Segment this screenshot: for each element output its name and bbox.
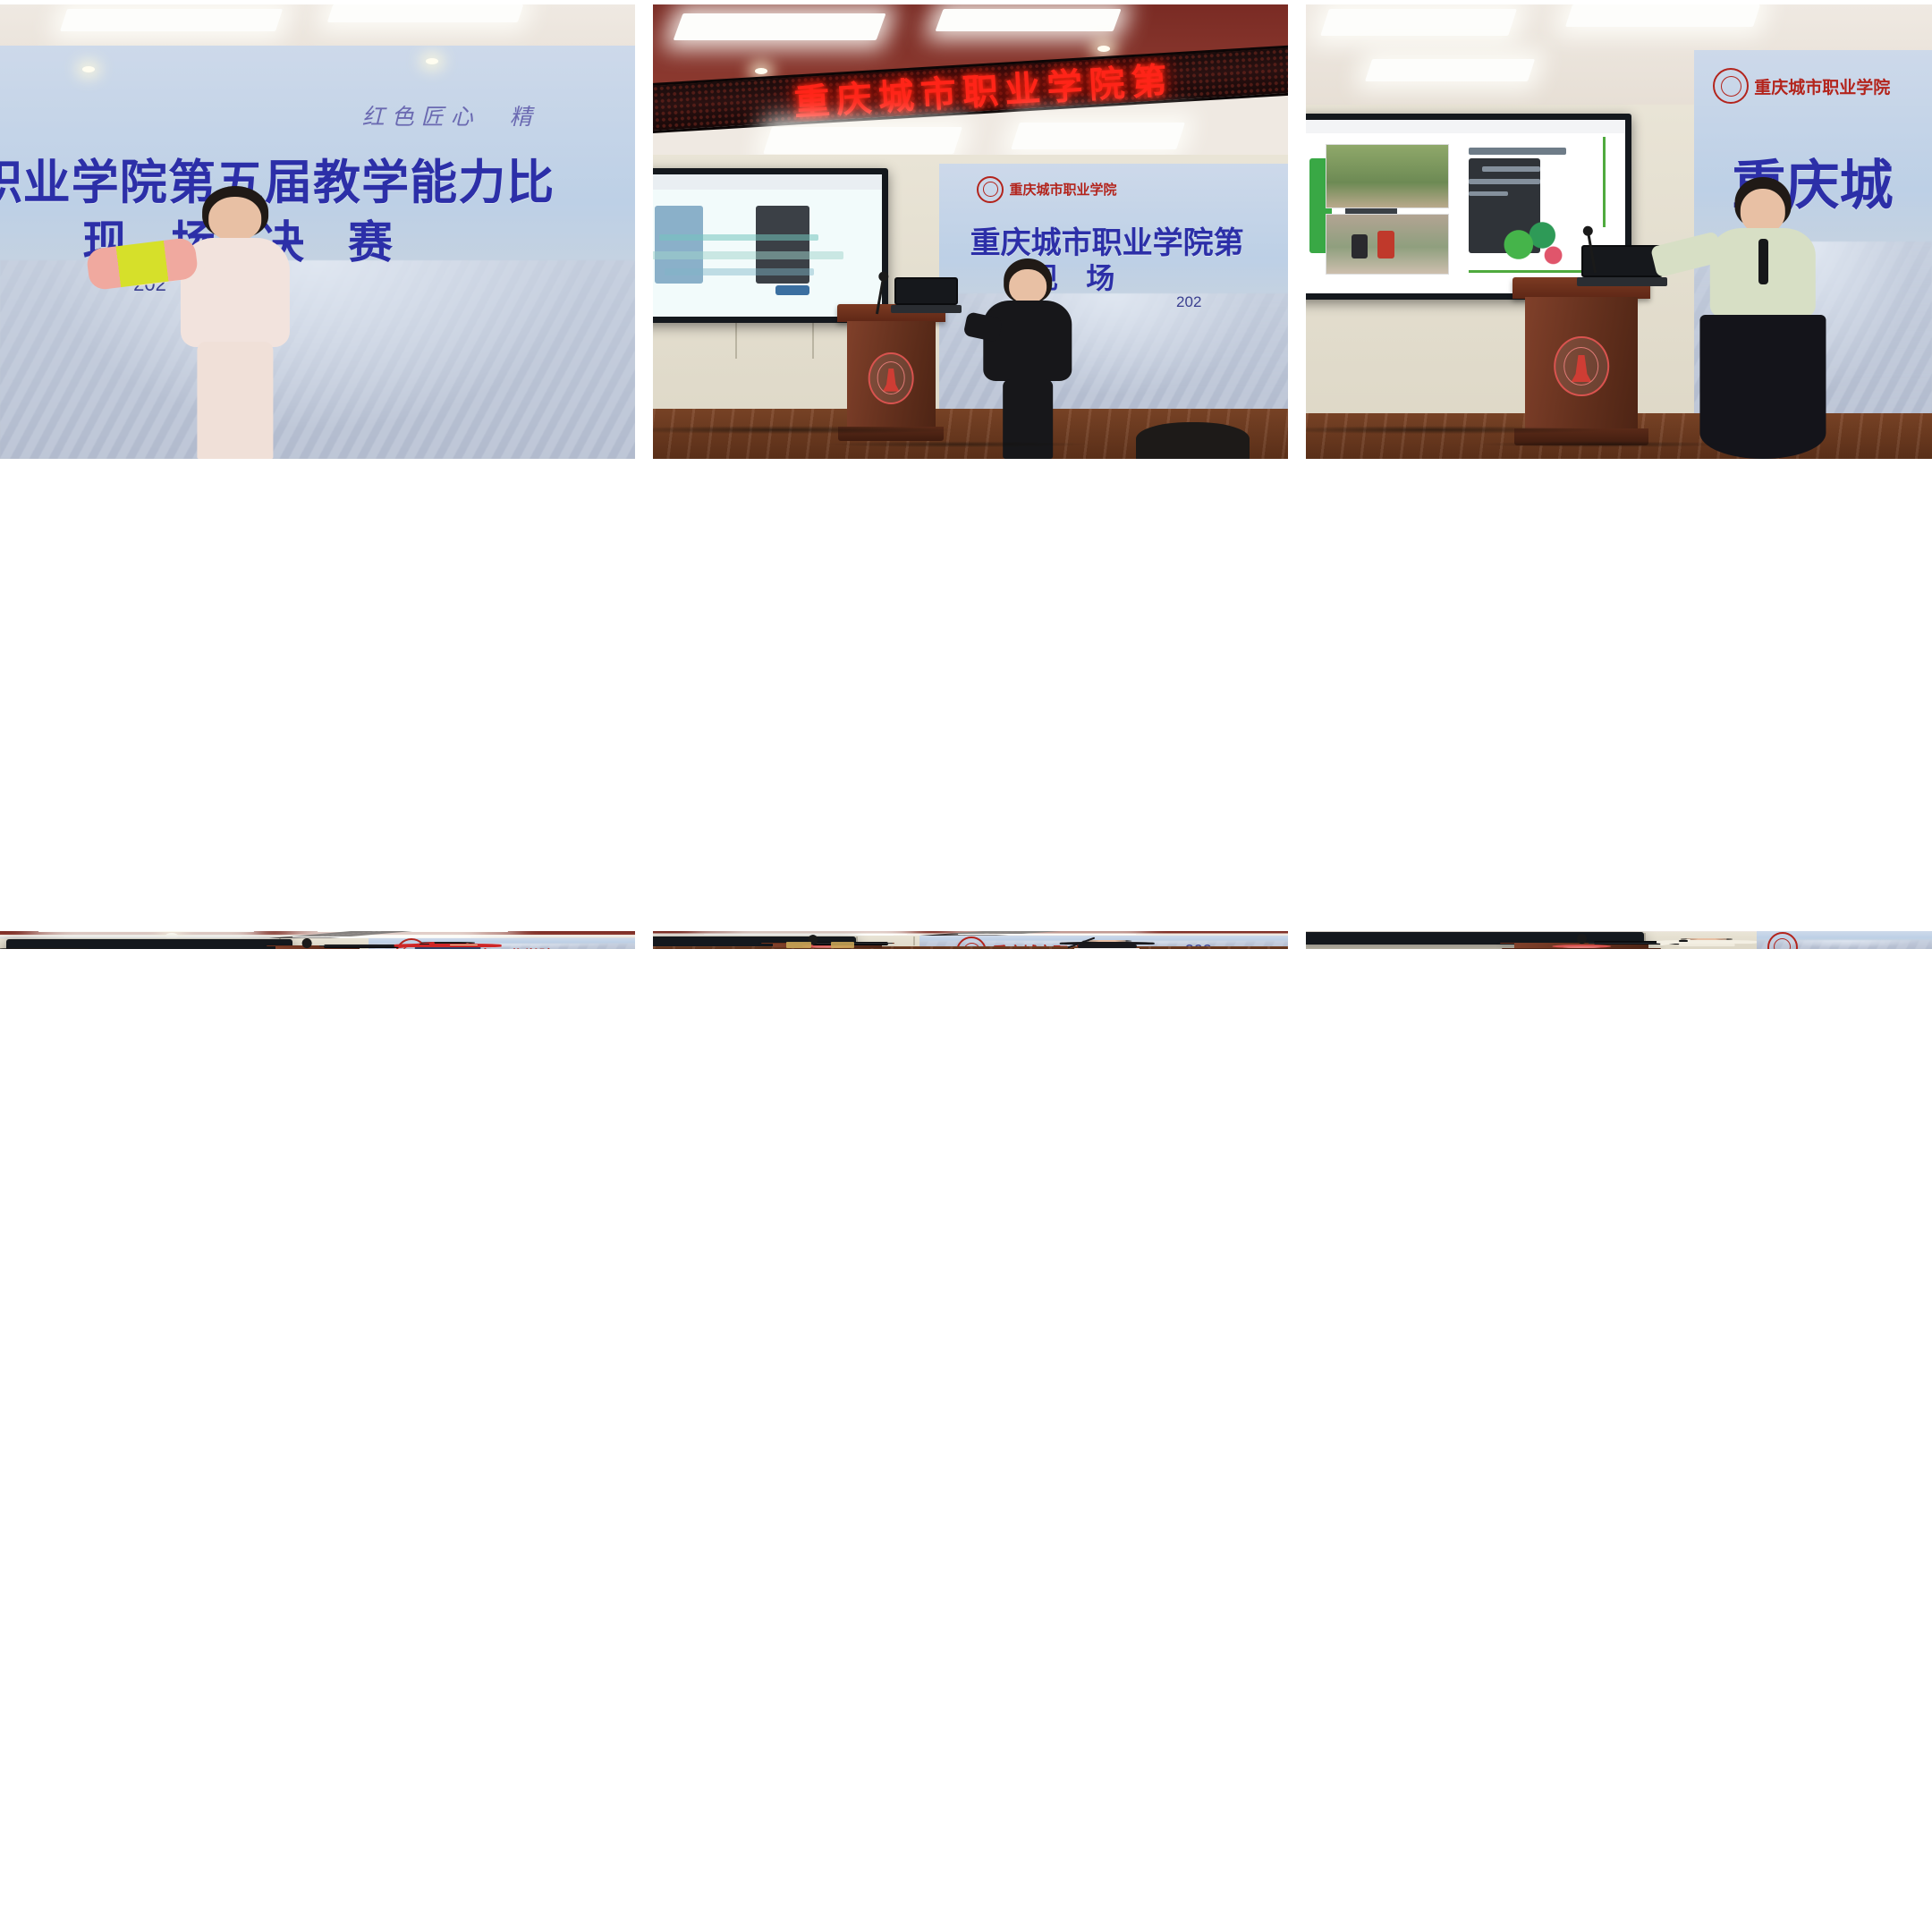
photo-collage: 红色匠心 精 职业学院第五届教学能力比 现 场 决 赛 202 (0, 0, 1932, 1932)
photo-cell-6: 学生学习策略 反思改进措施 3. 教学目标 4. 教学策略 (1306, 931, 1932, 949)
college-name: 重庆城市职业学院 (1009, 180, 1116, 199)
microphone-stand-4 (305, 944, 308, 945)
presenter-1 (172, 186, 299, 459)
backdrop-banner-6: 重 (1757, 931, 1932, 949)
podium-emblem-icon (1552, 945, 1611, 948)
college-name: 重庆城市职业学院 (1754, 74, 1890, 98)
college-seal-icon (1713, 68, 1749, 104)
projection-screen-2 (653, 168, 888, 323)
handheld-microphone-icon (1758, 239, 1768, 284)
college-seal-icon (977, 176, 1004, 203)
photo-cell-2: 重庆城市职业学院第 (653, 4, 1288, 459)
name-badge (450, 945, 478, 945)
backdrop-date: 202 (1176, 293, 1201, 311)
microphone-stand-6 (1580, 939, 1583, 942)
photo-cell-3: 重庆城市职业学院 重庆城 (1306, 4, 1932, 459)
microphone-stand-5 (811, 941, 814, 943)
handheld-microphone-icon (1679, 940, 1688, 941)
backdrop-title: 重 (1781, 935, 1836, 949)
handheld-microphone-icon (1082, 942, 1091, 944)
presenter-4 (394, 942, 502, 949)
photo-cell-5: 重庆城市职业学院第五届 (653, 931, 1288, 949)
laptop-4 (324, 945, 400, 946)
photo-cell-1: 红色匠心 精 职业学院第五届教学能力比 现 场 决 赛 202 (0, 4, 635, 459)
backdrop-calligraphy: 红色匠心 精 (362, 99, 539, 131)
photo-cell-4: 重庆城市职业 项目化教学 教学改革举措 三化 四力 (0, 931, 635, 949)
laptop-2 (894, 277, 958, 314)
presenter-6 (1657, 938, 1757, 946)
